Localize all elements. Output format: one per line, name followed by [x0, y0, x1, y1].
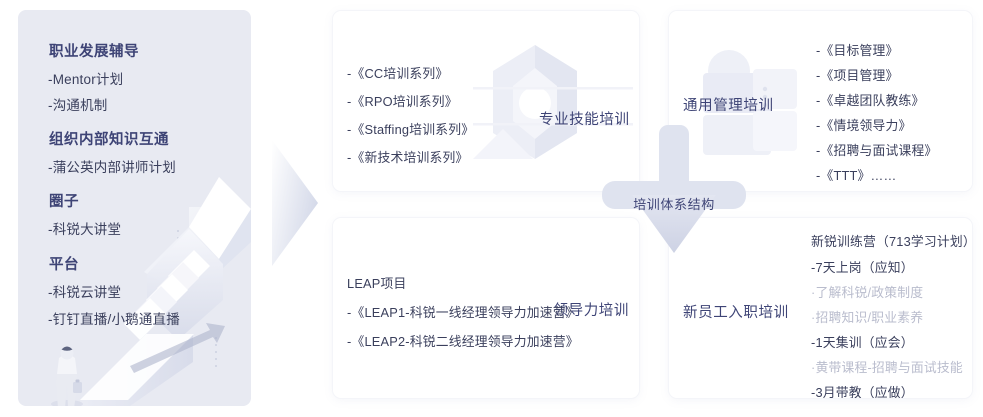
- card-general-line-0: -《目标管理》: [816, 40, 898, 59]
- card-leadership-training[interactable]: 领导力培训 LEAP项目 -《LEAP1-科锐一线经理领导力加速营》 -《LEA…: [333, 218, 639, 398]
- card-new-line-5: ·黄带课程-招聘与面试技能: [811, 357, 963, 376]
- card-skill-line-2: -《Staffing培训系列》: [347, 119, 474, 138]
- training-system-diagram: 职业发展辅导 -Mentor计划 -沟通机制 组织内部知识互通 -蒲公英内部讲师…: [0, 0, 983, 417]
- card-skill-line-0: -《CC培训系列》: [347, 63, 448, 82]
- card-new-line-4: -1天集训（应会）: [811, 332, 914, 351]
- left-group-item-2-0: -科锐大讲堂: [48, 218, 121, 238]
- center-node-label: 培训体系结构: [602, 195, 746, 215]
- left-group-heading-0: 职业发展辅导: [49, 40, 139, 61]
- left-panel: 职业发展辅导 -Mentor计划 -沟通机制 组织内部知识互通 -蒲公英内部讲师…: [18, 10, 251, 406]
- left-group-item-3-0: -科锐云讲堂: [48, 281, 121, 301]
- card-new-line-6: -3月带教（应做）: [811, 382, 914, 398]
- left-panel-text: 职业发展辅导 -Mentor计划 -沟通机制 组织内部知识互通 -蒲公英内部讲师…: [18, 10, 251, 406]
- card-general-line-1: -《项目管理》: [816, 65, 898, 84]
- card-skill-line-3: -《新技术培训系列》: [347, 147, 468, 166]
- card-new-line-0: 新锐训练营（713学习计划）: [811, 231, 972, 250]
- card-title-general: 通用管理培训: [683, 94, 803, 115]
- card-leap-line-1: -《LEAP1-科锐一线经理领导力加速营》: [347, 302, 579, 321]
- card-skill-line-1: -《RPO培训系列》: [347, 91, 458, 110]
- card-new-line-1: -7天上岗（应知）: [811, 257, 914, 276]
- left-group-heading-2: 圈子: [49, 190, 79, 211]
- card-leap-line-0: LEAP项目: [347, 273, 407, 292]
- left-group-heading-1: 组织内部知识互通: [49, 128, 169, 149]
- right-chevron-arrow-icon: [266, 132, 322, 274]
- left-group-item-3-1: -钉钉直播/小鹅通直播: [48, 308, 180, 328]
- card-general-line-4: -《招聘与面试课程》: [816, 140, 937, 159]
- card-title-new: 新员工入职培训: [683, 301, 813, 322]
- left-group-item-0-1: -沟通机制: [48, 94, 108, 114]
- card-general-line-2: -《卓越团队教练》: [816, 90, 924, 109]
- card-new-line-3: ·招聘知识/职业素养: [811, 307, 923, 326]
- card-leap-line-2: -《LEAP2-科锐二线经理领导力加速营》: [347, 331, 579, 350]
- left-group-item-0-0: -Mentor计划: [48, 68, 123, 88]
- left-group-item-1-0: -蒲公英内部讲师计划: [48, 156, 176, 176]
- card-new-line-2: ·了解科锐/政策制度: [811, 282, 923, 301]
- left-group-heading-3: 平台: [49, 253, 79, 274]
- card-skill-training[interactable]: 专业技能培训 -《CC培训系列》 -《RPO培训系列》 -《Staffing培训…: [333, 11, 639, 191]
- card-general-line-5: -《TTT》……: [816, 165, 897, 184]
- card-general-line-3: -《情境领导力》: [816, 115, 911, 134]
